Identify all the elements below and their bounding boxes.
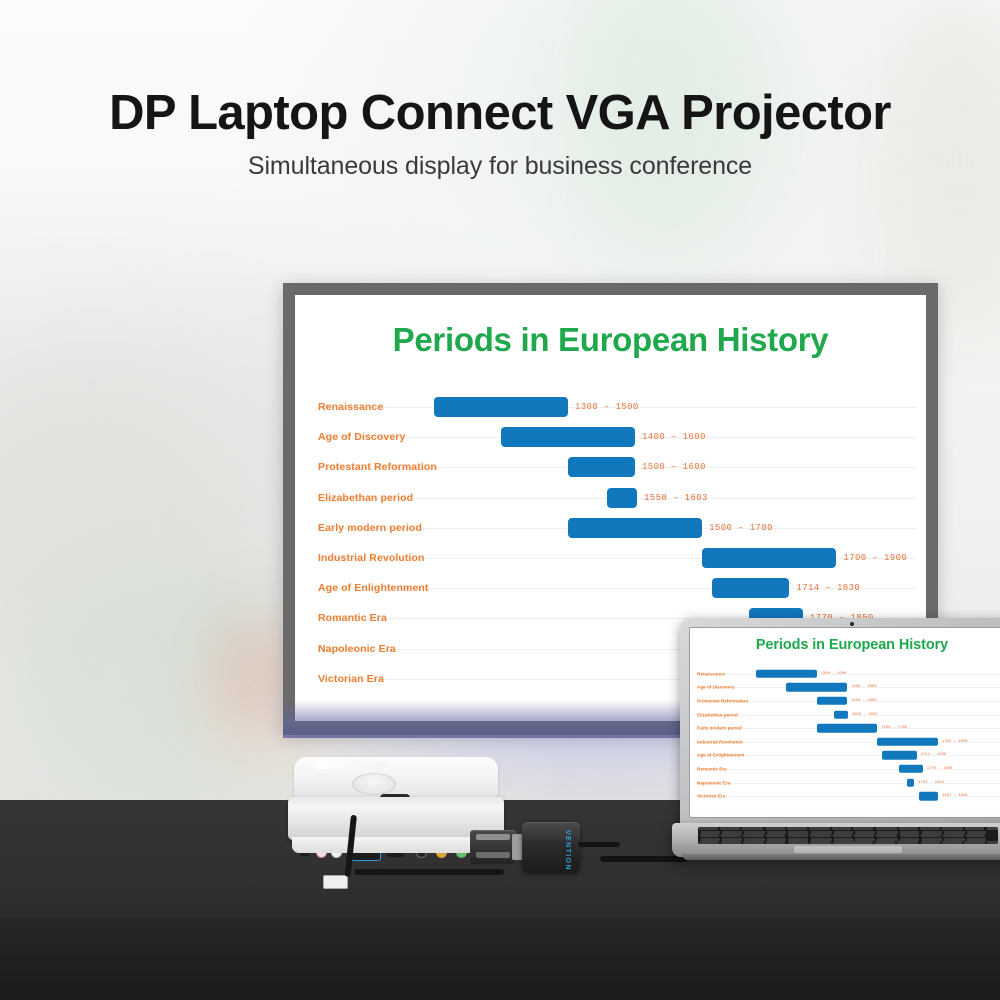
chart-row: Romantic Era1770 – 1850 — [689, 762, 1000, 776]
chart-row-label: Victorian Era — [697, 794, 725, 799]
chart-row: Elizabethan period1558 – 1603 — [689, 708, 1000, 722]
chart-bar-range-label: 1400 – 1600 — [642, 432, 706, 442]
chart-bar — [899, 765, 923, 773]
chart-bar-range-label: 1400 – 1600 — [851, 685, 877, 689]
chart-bar — [568, 518, 702, 538]
chart-bar — [434, 397, 568, 417]
keyboard-key[interactable] — [788, 841, 808, 844]
laptop-screen: Periods in European History Renaissance1… — [689, 627, 1000, 818]
chart-row: Industrial Revolution1700 – 1900 — [689, 735, 1000, 749]
chart-row-label: Protestant Reformation — [318, 461, 437, 473]
keyboard-key[interactable] — [921, 841, 940, 844]
projector-highlight — [316, 762, 388, 769]
adapter-vga-connector — [470, 830, 516, 864]
chart-row-label: Renaissance — [697, 671, 725, 676]
chart-row-label: Napoleonic Era — [318, 643, 396, 655]
keyboard-key[interactable] — [700, 841, 719, 844]
chart-bar — [919, 792, 938, 800]
chart-bar — [607, 488, 637, 508]
chart-bar-range-label: 1770 – 1850 — [927, 767, 953, 771]
chart-bar — [568, 457, 635, 477]
chart-bar — [877, 738, 938, 746]
chart-row: Age of Enlightenment1714 – 1830 — [295, 573, 926, 603]
chart-bar-range-label: 1500 – 1600 — [851, 699, 877, 703]
keyboard-row — [698, 841, 998, 844]
page-subtitle: Simultaneous display for business confer… — [0, 152, 1000, 181]
projector-focus-dial[interactable] — [352, 773, 396, 795]
chart-row-guide — [697, 674, 1000, 675]
chart-bar — [907, 778, 914, 786]
adapter-screw-arm — [476, 834, 510, 840]
keyboard-key[interactable] — [875, 841, 895, 844]
chart-bar — [882, 751, 917, 759]
chart-row: Renaissance1300 – 1500 — [295, 392, 926, 422]
chart-bar — [817, 724, 878, 732]
chart-row-label: Industrial Revolution — [697, 739, 743, 744]
page-title: DP Laptop Connect VGA Projector — [0, 88, 1000, 139]
keyboard-key[interactable] — [942, 841, 962, 844]
chart-row-label: Romantic Era — [697, 766, 727, 771]
chart-row-label: Elizabethan period — [318, 492, 413, 504]
keyboard-key[interactable] — [766, 841, 785, 844]
chart-bar-range-label: 1700 – 1900 — [843, 553, 907, 563]
chart-row-label: Age of Discovery — [697, 685, 735, 690]
chart-row: Protestant Reformation1500 – 1600 — [295, 452, 926, 482]
chart-bar — [786, 683, 847, 691]
chart-bar-range-label: 1714 – 1830 — [796, 583, 860, 593]
chart-row: Protestant Reformation1500 – 1600 — [689, 694, 1000, 708]
adapter-cable — [578, 842, 620, 847]
chart-bar — [817, 697, 847, 705]
keyboard-key[interactable] — [833, 841, 873, 844]
chart-row: Victorian Era1837 – 1901 — [689, 789, 1000, 803]
chart-bar-range-label: 1500 – 1600 — [642, 462, 706, 472]
chart-bar-range-label: 1799 – 1815 — [918, 781, 944, 785]
chart-bar-range-label: 1837 – 1901 — [942, 794, 968, 798]
chart-row: Renaissance1300 – 1500 — [689, 667, 1000, 681]
keyboard-key[interactable] — [964, 841, 985, 844]
keyboard-key[interactable] — [987, 841, 998, 844]
chart-row-label: Age of Enlightenment — [697, 753, 744, 758]
keyboard-key[interactable] — [743, 841, 764, 844]
chart-bar-range-label: 1300 – 1500 — [575, 402, 639, 412]
projector-base — [292, 837, 500, 853]
chart-bar-range-label: 1558 – 1603 — [644, 493, 708, 503]
chart-bar — [712, 578, 790, 598]
chart-row: Early modern period1500 – 1700 — [689, 721, 1000, 735]
keyboard-key[interactable] — [810, 841, 831, 844]
chart-row-guide — [697, 783, 1000, 784]
webcam-icon — [850, 622, 854, 626]
laptop-device: Periods in European History Renaissance1… — [672, 618, 1000, 883]
chart-row: Elizabethan period1558 – 1603 — [295, 483, 926, 513]
chart-bar — [501, 427, 635, 447]
chart-bar-range-label: 1700 – 1900 — [942, 740, 968, 744]
chart-bar — [756, 670, 817, 678]
chart-row-label: Protestant Reformation — [697, 698, 748, 703]
port-power-inlet-icon[interactable] — [323, 875, 348, 889]
chart-row-label: Early modern period — [318, 522, 422, 534]
chart-row-label: Victorian Era — [318, 673, 384, 685]
laptop-lid: Periods in European History Renaissance1… — [680, 618, 1000, 830]
keyboard-key[interactable] — [897, 841, 918, 844]
adapter-brand-label: VENTION — [563, 830, 572, 864]
dp-to-vga-adapter: VENTION — [470, 818, 598, 880]
chart-row: Early modern period1500 – 1700 — [295, 513, 926, 543]
product-banner: DP Laptop Connect VGA Projector Simultan… — [0, 0, 1000, 1000]
chart-bar-range-label: 1500 – 1700 — [881, 726, 907, 730]
chart-bar — [702, 548, 836, 568]
chart-row-guide — [697, 769, 1000, 770]
adapter-body: VENTION — [522, 822, 580, 872]
chart-title: Periods in European History — [295, 321, 926, 359]
keyboard-key[interactable] — [721, 841, 741, 844]
chart-row: Age of Discovery1400 – 1600 — [295, 422, 926, 452]
adapter-screw-arm — [476, 852, 510, 858]
laptop-foot — [682, 854, 1000, 860]
chart-row-label: Early modern period — [697, 726, 742, 731]
chart-row-label: Age of Discovery — [318, 431, 405, 443]
chart-row-label: Age of Enlightenment — [318, 582, 429, 594]
chart-row-label: Industrial Revolution — [318, 552, 425, 564]
chart-row-label: Elizabethan period — [697, 712, 738, 717]
laptop-trackpad[interactable] — [794, 846, 902, 853]
projector-top-shell — [294, 757, 498, 799]
chart-bar-range-label: 1500 – 1700 — [709, 523, 773, 533]
chart-row-guide — [697, 687, 1000, 688]
chart-bar — [834, 710, 848, 718]
chart-row: Age of Enlightenment1714 – 1830 — [689, 749, 1000, 763]
chart-row-label: Renaissance — [318, 401, 383, 413]
chart-row-guide — [697, 715, 1000, 716]
chart-row: Napoleonic Era1799 – 1815 — [689, 776, 1000, 790]
chart-bar-range-label: 1300 – 1500 — [821, 672, 847, 676]
chart-bar-range-label: 1714 – 1830 — [921, 753, 947, 757]
chart-row: Age of Discovery1400 – 1600 — [689, 681, 1000, 695]
laptop-chart-rows: Renaissance1300 – 1500Age of Discovery14… — [689, 667, 1000, 803]
chart-bar-range-label: 1558 – 1603 — [852, 713, 878, 717]
chart-row: Industrial Revolution1700 – 1900 — [295, 543, 926, 573]
chart-row-label: Napoleonic Era — [697, 780, 730, 785]
chart-row-label: Romantic Era — [318, 612, 387, 624]
laptop-keyboard[interactable] — [698, 827, 998, 844]
laptop-chart-title: Periods in European History — [689, 637, 1000, 653]
